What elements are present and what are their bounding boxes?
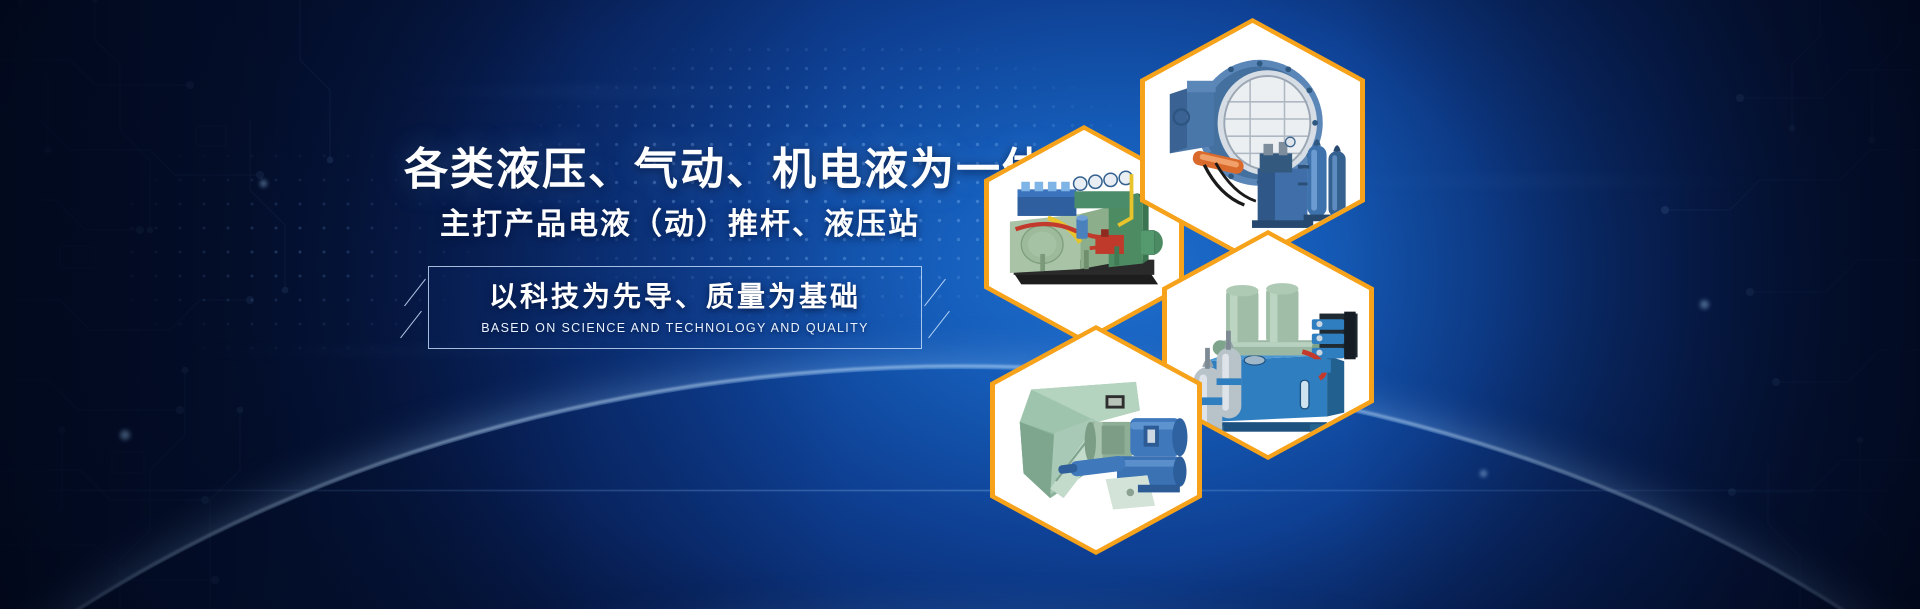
slogan-box: 以科技为先导、质量为基础 BASED ON SCIENCE AND TECHNO… xyxy=(428,266,922,349)
slash-decoration-left-2 xyxy=(400,311,422,338)
hero-banner: 各类液压、气动、机电液为一体 主打产品电液（动）推杆、液压站 以科技为先导、质量… xyxy=(0,0,1920,609)
slogan-block: 以科技为先导、质量为基础 BASED ON SCIENCE AND TECHNO… xyxy=(428,266,922,349)
banner-headline: 各类液压、气动、机电液为一体 xyxy=(404,148,1044,192)
product-hexagon-cluster xyxy=(960,0,1520,609)
banner-subheadline: 主打产品电液（动）推杆、液压站 xyxy=(440,210,1044,240)
slogan-chinese: 以科技为先导、质量为基础 xyxy=(439,283,911,311)
slash-decoration-left-1 xyxy=(404,279,426,306)
banner-copy: 各类液压、气动、机电液为一体 主打产品电液（动）推杆、液压站 以科技为先导、质量… xyxy=(404,148,1044,349)
slogan-english: BASED ON SCIENCE AND TECHNOLOGY AND QUAL… xyxy=(439,322,911,335)
slash-decoration-right-1 xyxy=(924,279,946,306)
slash-decoration-right-2 xyxy=(928,311,950,338)
